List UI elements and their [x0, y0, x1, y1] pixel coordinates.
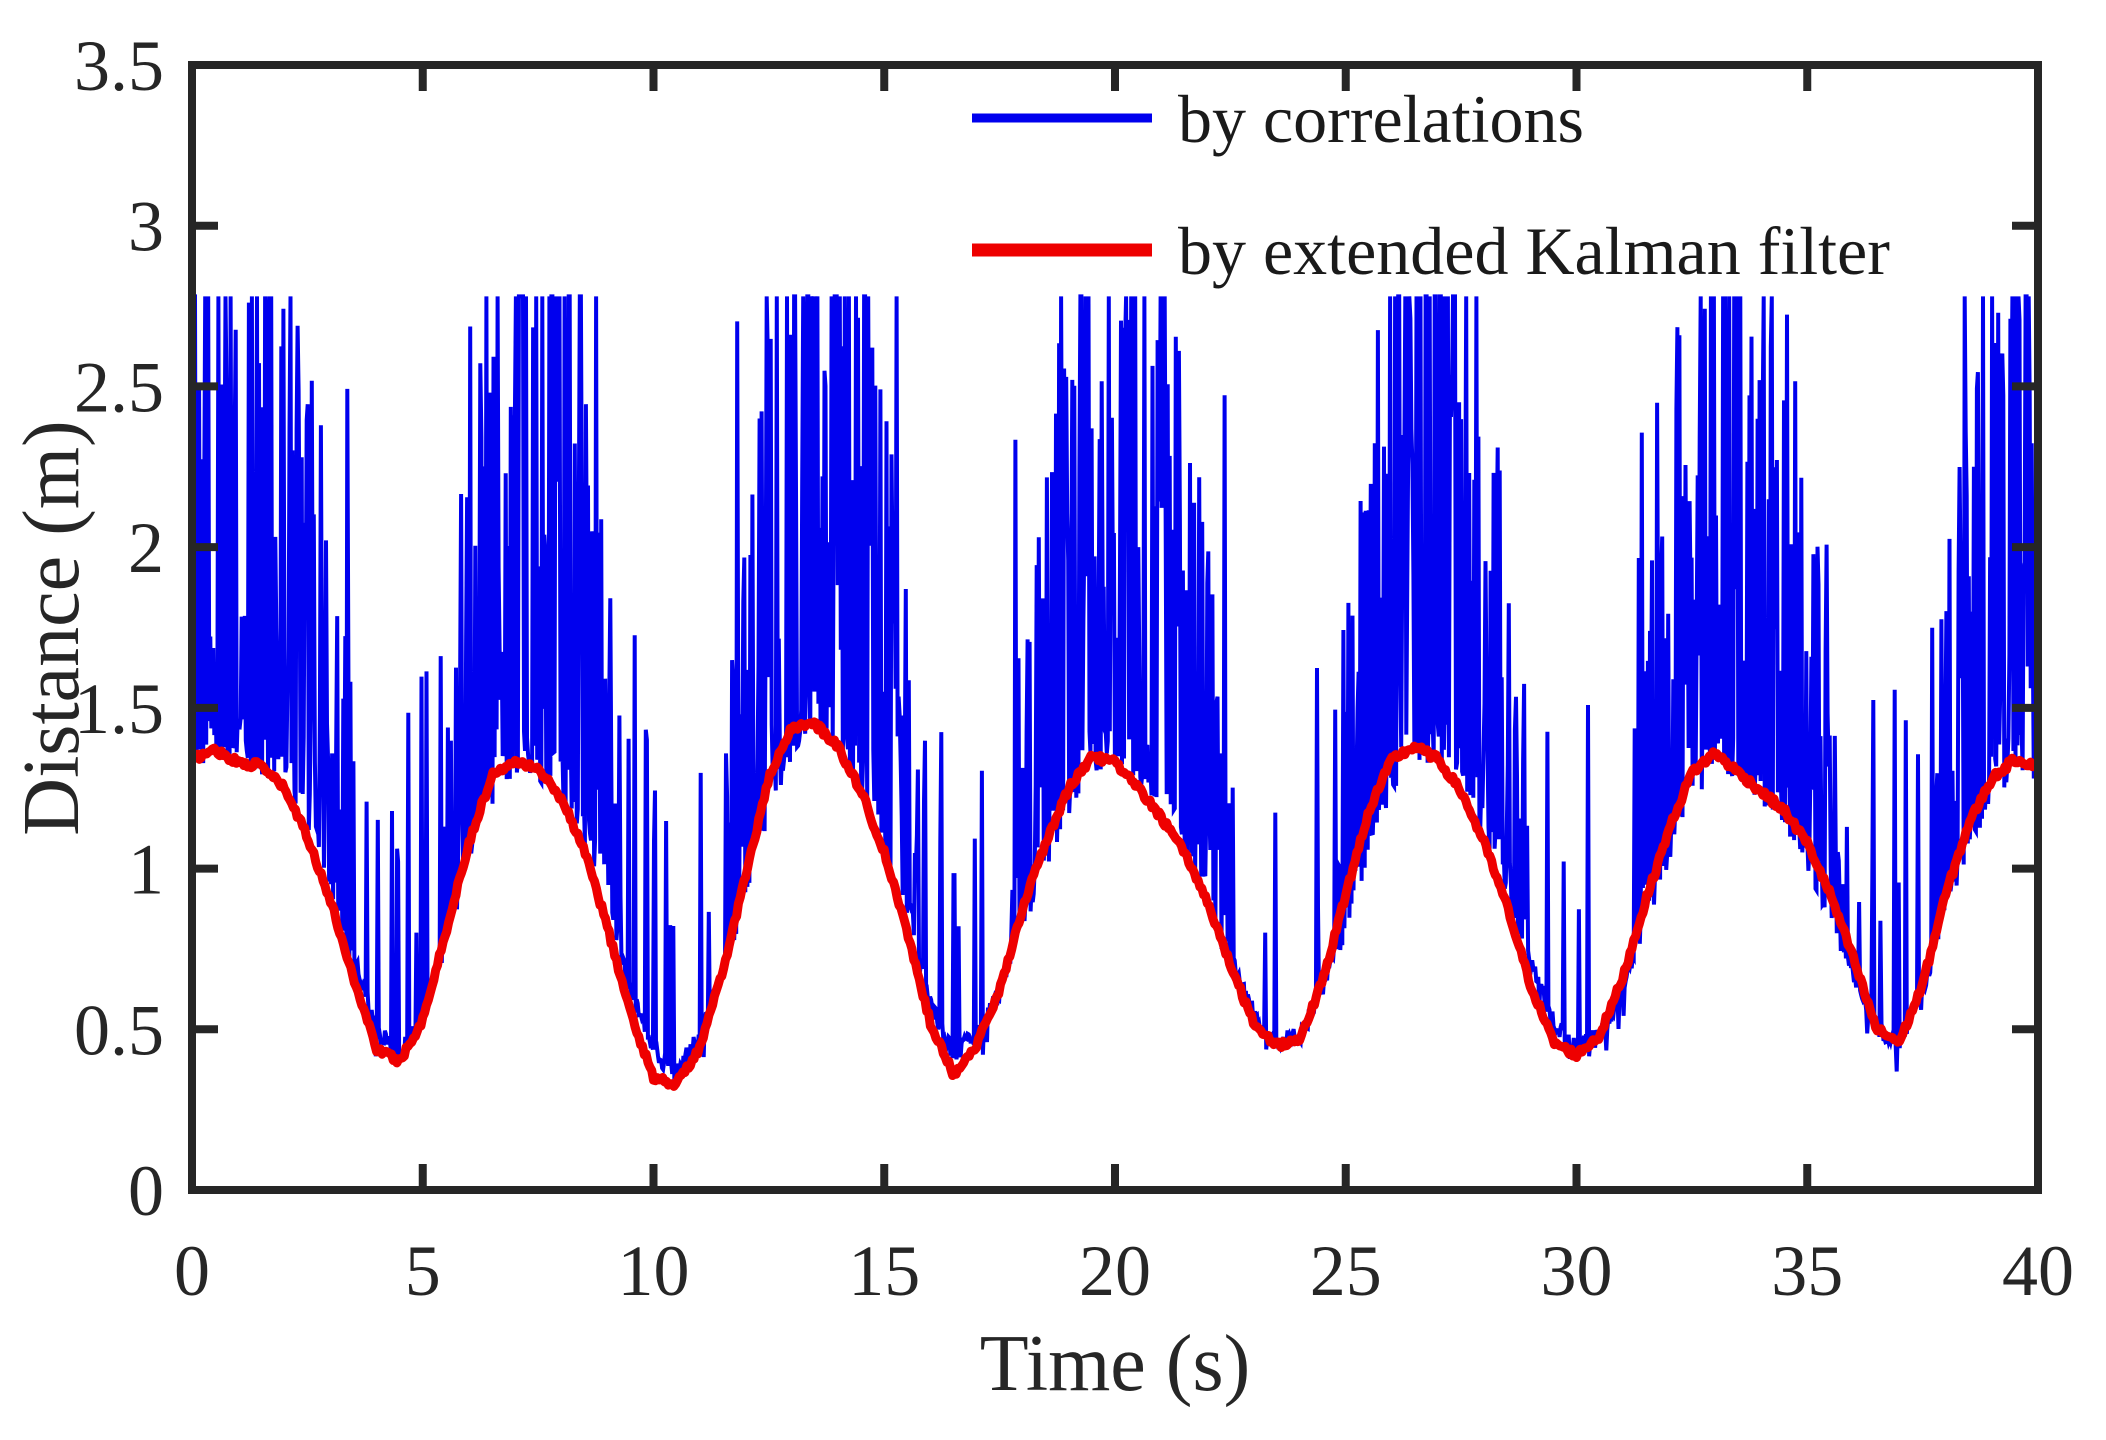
legend-label-by-correlations: by correlations: [1178, 81, 1584, 157]
x-tick-label: 25: [1310, 1231, 1382, 1311]
x-axis-title: Time (s): [980, 1320, 1250, 1408]
y-tick-label: 0: [128, 1151, 164, 1231]
legend-label-by-extended-kalman-filter: by extended Kalman filter: [1178, 213, 1890, 289]
y-tick-label: 3: [128, 187, 164, 267]
y-tick-label: 1: [128, 830, 164, 910]
x-tick-label: 35: [1771, 1231, 1843, 1311]
x-tick-label: 20: [1079, 1231, 1151, 1311]
y-tick-label: 3.5: [74, 26, 164, 106]
chart-page: 0510152025303540 00.511.522.533.5 Time (…: [0, 0, 2106, 1440]
y-axis-title: Distance (m): [8, 420, 96, 835]
x-tick-label: 30: [1541, 1231, 1613, 1311]
x-tick-label: 15: [848, 1231, 920, 1311]
x-tick-label: 10: [618, 1231, 690, 1311]
y-tick-label: 2.5: [74, 347, 164, 427]
x-tick-label: 40: [2002, 1231, 2074, 1311]
x-tick-label: 5: [405, 1231, 441, 1311]
x-tick-label: 0: [174, 1231, 210, 1311]
y-tick-label: 2: [128, 508, 164, 588]
y-tick-label: 0.5: [74, 990, 164, 1070]
distance-vs-time-chart: 0510152025303540 00.511.522.533.5 Time (…: [0, 0, 2106, 1440]
